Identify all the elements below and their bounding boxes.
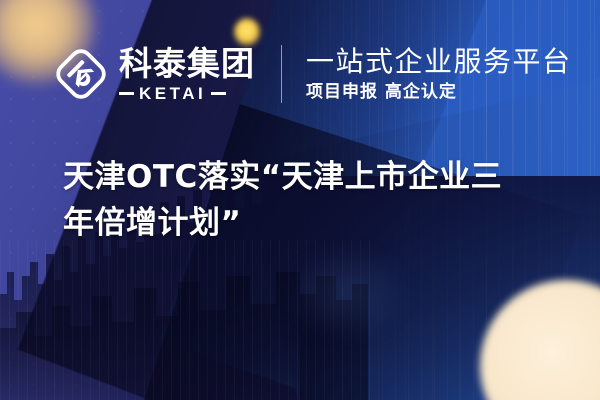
logo-rule-right	[211, 92, 226, 95]
tagline-sub: 项目申报 高企认定	[306, 83, 572, 102]
logo-name-en-row: KETAI	[119, 85, 255, 102]
promo-banner: 科泰集团 KETAI 一站式企业服务平台 项目申报 高企认定 天津OTC落实“天…	[0, 0, 600, 400]
logo-name-cn: 科泰集团	[119, 47, 255, 80]
headline-text: 天津OTC落实“天津上市企业三年倍增计划”	[63, 155, 533, 247]
banner-content: 科泰集团 KETAI 一站式企业服务平台 项目申报 高企认定 天津OTC落实“天…	[0, 0, 600, 400]
brand-header: 科泰集团 KETAI 一站式企业服务平台 项目申报 高企认定	[52, 38, 572, 110]
ketai-diamond-k-logo-icon	[52, 45, 110, 103]
tagline-main: 一站式企业服务平台	[306, 47, 572, 77]
brand-logo: 科泰集团 KETAI	[52, 45, 255, 103]
logo-name-en: KETAI	[139, 85, 206, 102]
tagline-block: 一站式企业服务平台 项目申报 高企认定	[306, 47, 572, 102]
logo-rule-left	[119, 92, 134, 95]
logo-wordmark: 科泰集团 KETAI	[119, 47, 255, 102]
header-divider	[281, 45, 282, 103]
